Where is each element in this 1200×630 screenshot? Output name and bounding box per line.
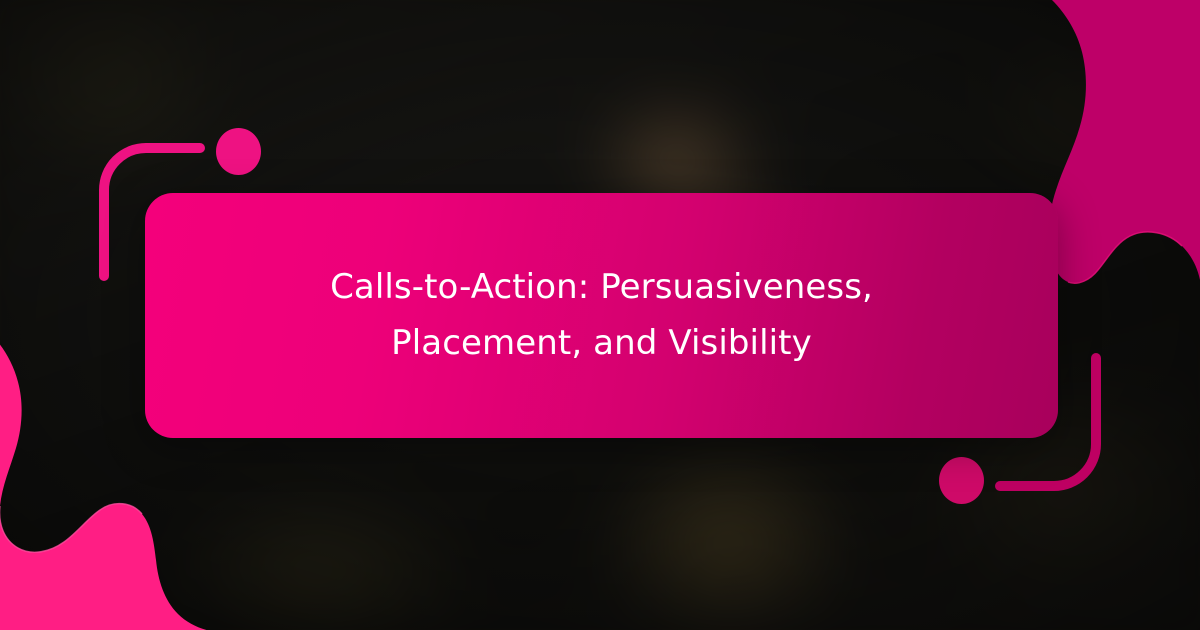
accent-dot-bottom-right xyxy=(939,457,984,504)
title-card: Calls-to-Action: Persuasiveness, Placeme… xyxy=(145,193,1058,438)
page-title: Calls-to-Action: Persuasiveness, Placeme… xyxy=(232,260,972,370)
accent-dot-top-left xyxy=(216,128,261,175)
social-share-card: Calls-to-Action: Persuasiveness, Placeme… xyxy=(0,0,1200,630)
